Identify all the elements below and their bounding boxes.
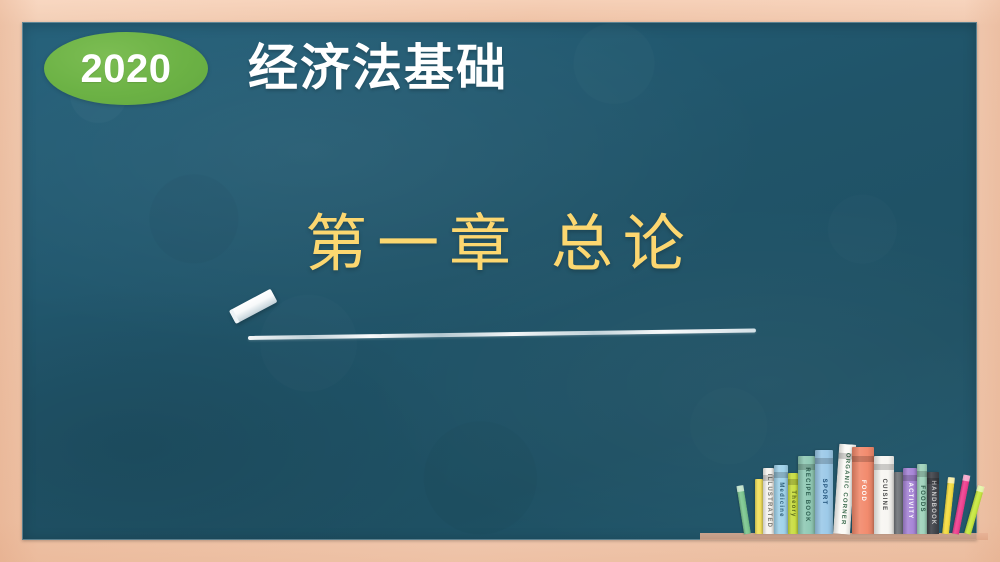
book-spine-label: RECIPE BOOK [804, 467, 810, 522]
course-title: 经济法基础 [248, 41, 508, 96]
book-spine-band [917, 471, 927, 477]
shelf-book: HANDBOOK [927, 472, 939, 534]
year-badge-label: 2020 [81, 49, 172, 89]
book-spine-band [874, 464, 894, 470]
shelf-book: CUISINE [874, 456, 894, 534]
book-spine-label: FOODS [919, 485, 925, 512]
book-spine-band [798, 464, 815, 470]
book-spine-band [763, 475, 774, 481]
shelf-book: ACTIVITY [903, 468, 917, 534]
year-badge: 2020 [44, 32, 208, 105]
shelf-book: Medicine [774, 465, 788, 534]
shelf-book: Theory [788, 473, 798, 534]
shelf-book: FOODS [917, 464, 927, 534]
shelf-pencil [736, 485, 751, 534]
slide-canvas: 2020 经济法基础 第一章 总论 ILLUSTRATEDMedicineThe… [0, 0, 1000, 562]
book-spine-band [815, 458, 833, 464]
book-spine-band [927, 478, 939, 484]
book-spine-label: HANDBOOK [930, 481, 936, 526]
book-spine-label: ORGANIC CORNER [839, 453, 850, 526]
shelf-book [894, 472, 903, 534]
book-spine-band [903, 475, 917, 481]
bookshelf-decoration: ILLUSTRATEDMedicineTheoryRECIPE BOOKSPOR… [728, 454, 990, 534]
chapter-title: 第一章 总论 [0, 208, 1000, 279]
book-spine-band [852, 456, 874, 462]
book-spine-label: FOOD [860, 479, 866, 501]
shelf-book: RECIPE BOOK [798, 456, 815, 534]
shelf-book [755, 479, 763, 534]
shelf-book: SPORT [815, 450, 833, 534]
book-spine-label: Medicine [778, 482, 784, 517]
book-spine-band [788, 479, 798, 485]
shelf-book: FOOD [852, 447, 874, 534]
shelf-pencil [964, 485, 985, 535]
book-spine-label: ACTIVITY [907, 483, 913, 520]
book-spine-label: Theory [790, 490, 796, 517]
book-spine-band [774, 472, 788, 478]
book-spine-label: CUISINE [881, 479, 887, 512]
book-spine-label: SPORT [821, 479, 827, 506]
shelf-book: ILLUSTRATED [763, 468, 774, 534]
book-spine-label: ILLUSTRATED [766, 474, 772, 528]
